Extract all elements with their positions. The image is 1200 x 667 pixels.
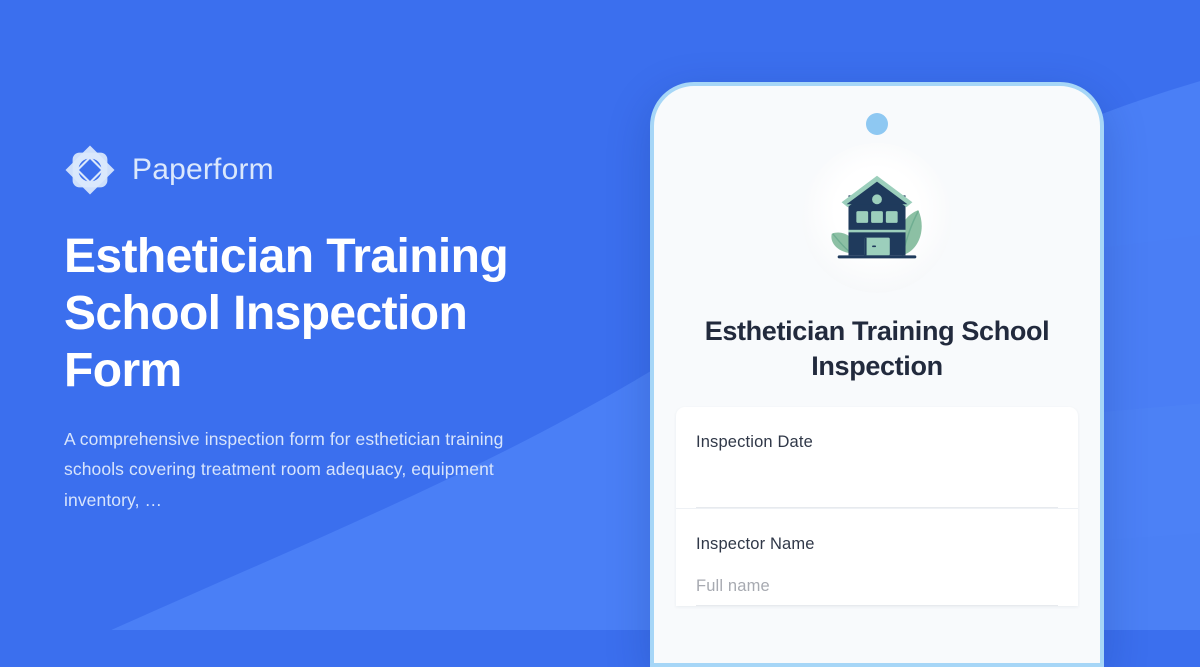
paperform-logo-icon bbox=[64, 144, 116, 196]
form-card: Inspection Date Inspector Name Full name bbox=[676, 407, 1078, 606]
field-placeholder: Full name bbox=[696, 577, 770, 596]
inspector-name-input[interactable]: Full name bbox=[696, 558, 1058, 606]
page-title: Esthetician Training School Inspection F… bbox=[64, 228, 564, 399]
brand-name: Paperform bbox=[132, 155, 274, 185]
form-field-inspector-name: Inspector Name Full name bbox=[676, 508, 1078, 606]
hero-panel: Paperform Esthetician Training School In… bbox=[64, 142, 624, 515]
form-title: Esthetician Training School Inspection bbox=[680, 314, 1074, 384]
phone-mockup: Esthetician Training School Inspection I… bbox=[650, 82, 1104, 667]
inspection-date-input[interactable] bbox=[696, 456, 1058, 508]
form-field-inspection-date: Inspection Date bbox=[676, 407, 1078, 508]
house-building-icon bbox=[802, 143, 952, 293]
brand-lockup: Paperform bbox=[64, 142, 624, 198]
page-description: A comprehensive inspection form for esth… bbox=[64, 424, 554, 514]
background-facet-corner bbox=[1110, 530, 1200, 630]
field-label: Inspector Name bbox=[696, 535, 1058, 554]
camera-dot-icon bbox=[866, 113, 888, 135]
field-label: Inspection Date bbox=[696, 433, 1058, 452]
form-icon-container bbox=[654, 143, 1100, 293]
